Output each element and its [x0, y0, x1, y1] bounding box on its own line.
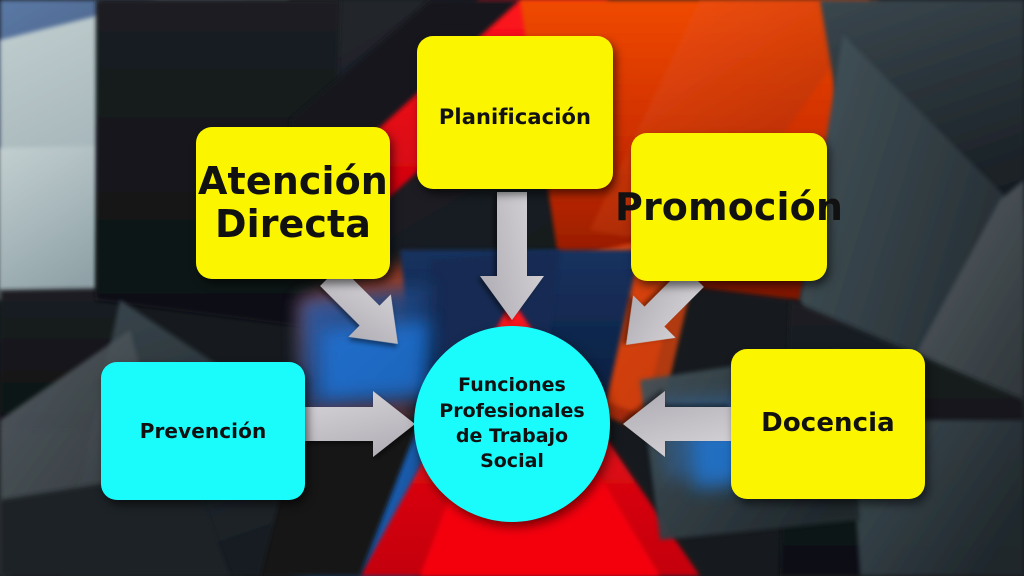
node-promocion[interactable]: Promoción	[631, 133, 827, 281]
node-docencia[interactable]: Docencia	[731, 349, 925, 499]
node-planificacion-label: Planificación	[439, 106, 591, 130]
hub-funciones-profesionales[interactable]: Funciones Profesionales de Trabajo Socia…	[414, 326, 610, 522]
hub-label: Funciones Profesionales de Trabajo Socia…	[429, 373, 594, 474]
node-docencia-label: Docencia	[761, 409, 895, 438]
node-atencion-directa[interactable]: Atención Directa	[196, 127, 390, 279]
node-atencion-directa-label: Atención Directa	[198, 160, 388, 245]
node-prevencion[interactable]: Prevención	[101, 362, 305, 500]
diagram-canvas: Atención Directa Planificación Promoción…	[0, 0, 1024, 576]
node-prevencion-label: Prevención	[140, 420, 267, 442]
node-planificacion[interactable]: Planificación	[417, 36, 613, 189]
node-promocion-label: Promoción	[615, 186, 843, 229]
